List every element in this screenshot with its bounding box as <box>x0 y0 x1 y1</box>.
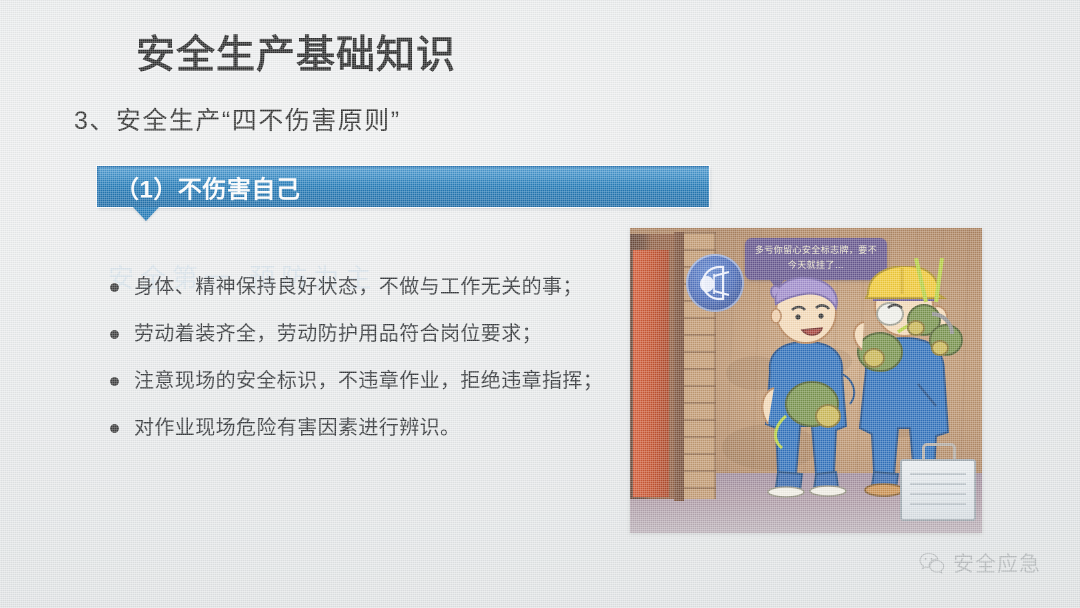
list-item: 劳动着装齐全，劳动防护用品符合岗位要求； <box>110 319 630 366</box>
toolbox <box>900 459 976 521</box>
footer-account-name: 安全应急 <box>953 548 1041 578</box>
section-banner: （1）不伤害自己 <box>97 166 709 207</box>
illustration-image: 多亏你留心安全标志牌，要不今天就挂了… <box>630 228 982 533</box>
bullet-dot-icon <box>110 377 119 386</box>
list-item-label: 注意现场的安全标识，不违章作业，拒绝违章指挥； <box>134 366 603 396</box>
list-item-label: 身体、精神保持良好状态，不做与工作无关的事； <box>134 272 583 302</box>
page-title: 安全生产基础知识 <box>136 24 456 80</box>
orange-door-panel <box>633 250 669 497</box>
toolbox-handle <box>922 443 956 459</box>
bullet-dot-icon <box>110 424 119 433</box>
bullet-dot-icon <box>110 283 119 292</box>
slide-canvas: 安全生产基础知识 3、安全生产“四不伤害原则” （1）不伤害自己 安全第一 预防… <box>0 0 1080 608</box>
footer-account-logo: 安全应急 <box>918 548 1041 578</box>
wechat-icon <box>918 550 945 577</box>
bullet-list: 身体、精神保持良好状态，不做与工作无关的事； 劳动着装齐全，劳动防护用品符合岗位… <box>110 272 630 460</box>
list-item-label: 劳动着装齐全，劳动防护用品符合岗位要求； <box>134 319 542 349</box>
banner-pointer-icon <box>133 207 159 221</box>
bullet-dot-icon <box>110 330 119 339</box>
banner-label: （1）不伤害自己 <box>115 169 300 204</box>
wear-mask-sign-icon <box>686 254 744 312</box>
list-item: 身体、精神保持良好状态，不做与工作无关的事； <box>110 272 630 319</box>
list-item: 注意现场的安全标识，不违章作业，拒绝违章指挥； <box>110 366 630 413</box>
list-item: 对作业现场危险有害因素进行辨识。 <box>110 413 630 460</box>
hanging-gas-masks <box>902 258 976 378</box>
door-edge <box>674 232 684 501</box>
list-item-label: 对作业现场危险有害因素进行辨识。 <box>134 413 460 443</box>
section-heading: 3、安全生产“四不伤害原则” <box>74 101 401 137</box>
